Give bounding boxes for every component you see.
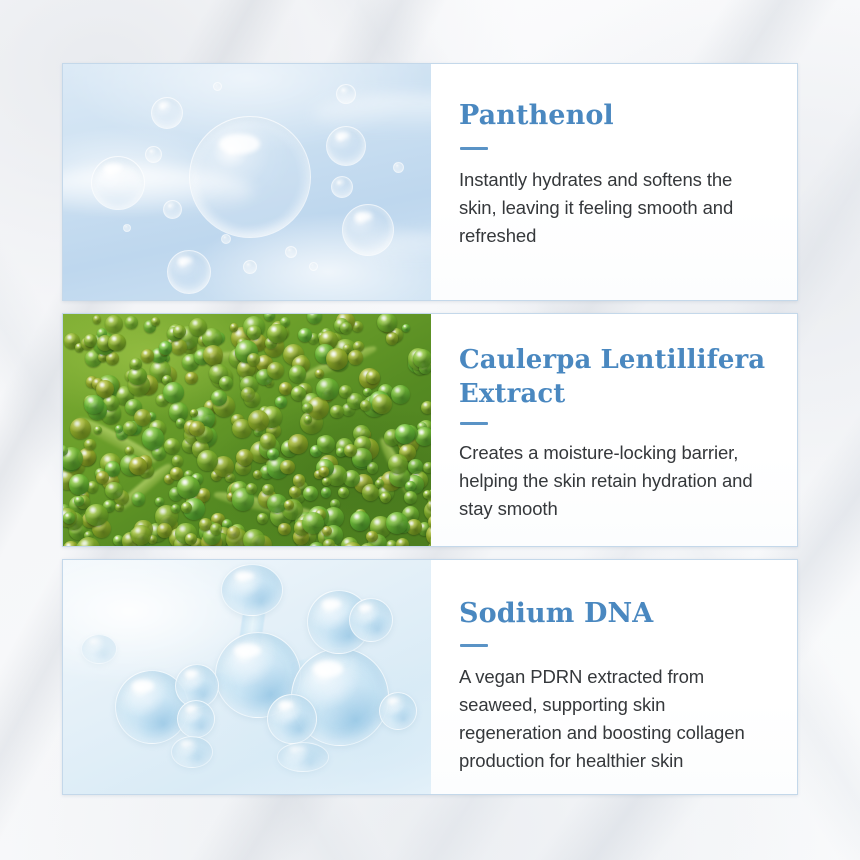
ingredient-title: Sodium DNA (459, 596, 771, 631)
ingredient-title: Caulerpa Lentillifera Extract (459, 344, 771, 412)
ingredient-card-list: Panthenol Instantly hydrates and softens… (62, 63, 798, 795)
title-divider (460, 147, 488, 150)
title-divider (460, 644, 488, 647)
ingredient-description: Creates a moisture-locking barrier, help… (459, 439, 771, 523)
ingredient-card-sodium-dna[interactable]: Sodium DNA A vegan PDRN extracted from s… (62, 559, 798, 795)
ingredient-image-sea-grapes (63, 314, 431, 546)
ingredient-card-caulerpa-lentillifera-extract[interactable]: Caulerpa Lentillifera Extract Creates a … (62, 313, 798, 547)
ingredient-description: A vegan PDRN extracted from seaweed, sup… (459, 663, 771, 775)
ingredient-text-panel: Panthenol Instantly hydrates and softens… (431, 64, 797, 300)
ingredient-title: Panthenol (459, 98, 771, 133)
ingredient-text-panel: Sodium DNA A vegan PDRN extracted from s… (431, 560, 797, 794)
ingredient-image-water-bubbles (63, 64, 431, 300)
ingredient-image-molecule (63, 560, 431, 794)
ingredient-description: Instantly hydrates and softens the skin,… (459, 166, 771, 250)
title-divider (460, 422, 488, 425)
ingredient-text-panel: Caulerpa Lentillifera Extract Creates a … (431, 314, 797, 546)
ingredient-card-panthenol[interactable]: Panthenol Instantly hydrates and softens… (62, 63, 798, 301)
